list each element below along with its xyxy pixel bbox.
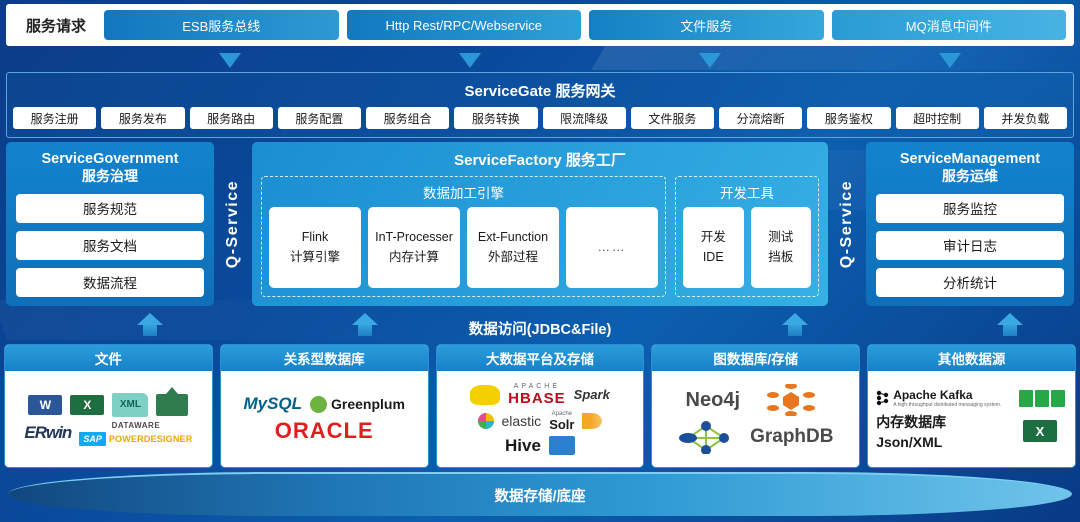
request-channel-esb[interactable]: ESB服务总线	[104, 10, 339, 40]
apache-hbase-prefix: APACHE	[514, 383, 560, 390]
elastic-mark-icon	[478, 413, 494, 429]
relational-logo-row-2: ORACLE	[275, 418, 374, 444]
management-item-analytics[interactable]: 分析统计	[876, 268, 1064, 297]
elastic-logo: elastic	[502, 413, 542, 429]
upload-icon	[156, 394, 188, 416]
source-relational-body: MySQL Greenplum ORACLE	[221, 371, 428, 467]
engine-group-title: 数据加工引擎	[269, 182, 658, 207]
hive-logo: Hive	[505, 436, 541, 456]
neo4j-graph-icon	[678, 420, 736, 454]
middle-band: ServiceGovernment 服务治理 服务规范 服务文档 数据流程 Q-…	[6, 142, 1074, 306]
engine-card-flink-line1: Flink	[302, 228, 328, 247]
management-title-en: ServiceManagement	[876, 150, 1064, 168]
other-logo-row-1: Apache Kafka A high-throughput distribut…	[876, 388, 1071, 408]
tools-card-dev-ide[interactable]: 开发 IDE	[683, 207, 744, 288]
tools-card-test-line1: 测试	[768, 228, 793, 247]
engine-card-row: Flink 计算引擎 InT-Processer 内存计算 Ext-Functi…	[269, 207, 658, 288]
source-bigdata-title: 大数据平台及存储	[437, 345, 644, 371]
tools-card-dev-line2: IDE	[703, 248, 724, 267]
governance-item-spec[interactable]: 服务规范	[16, 194, 204, 223]
gate-tag-service-compose[interactable]: 服务组合	[366, 107, 449, 129]
source-other-body: Apache Kafka A high-throughput distribut…	[868, 371, 1075, 467]
management-item-monitor[interactable]: 服务监控	[876, 194, 1064, 223]
hive-bee-icon	[470, 385, 500, 405]
spark-logo: Spark	[574, 387, 610, 402]
powerdesigner-logo: POWERDESIGNER	[109, 434, 193, 444]
source-panel-bigdata[interactable]: 大数据平台及存储 APACHE HBASE Spark elastic Apac…	[436, 344, 645, 468]
other-logo-row-2: 内存数据库 Json/XML X	[876, 412, 1071, 450]
data-access-bar: 数据访问(JDBC&File)	[6, 311, 1074, 345]
service-request-label: 服务请求	[14, 15, 96, 36]
governance-title-en: ServiceGovernment	[16, 150, 204, 168]
gate-tag-service-auth[interactable]: 服务鉴权	[807, 107, 890, 129]
governance-item-list: 服务规范 服务文档 数据流程	[16, 194, 204, 297]
hive-file-icon	[549, 436, 575, 455]
engine-card-ext-line1: Ext-Function	[478, 228, 548, 247]
data-access-label: 数据访问(JDBC&File)	[469, 318, 612, 339]
graphdb-logo-row-1: Neo4j	[686, 384, 826, 416]
gate-tag-service-route[interactable]: 服务路由	[190, 107, 273, 129]
mysql-logo: MySQL	[243, 394, 302, 414]
gate-tag-service-transform[interactable]: 服务转换	[454, 107, 537, 129]
request-channel-mq[interactable]: MQ消息中间件	[832, 10, 1067, 40]
engine-card-more[interactable]: ……	[566, 207, 658, 288]
graphdb-logo-row-2: GraphDB	[678, 420, 833, 454]
flow-arrow-down-1	[219, 53, 241, 68]
qservice-label-left: Q-Service	[214, 142, 252, 306]
data-storage-base-bar: 数据存储/底座	[8, 472, 1072, 516]
gate-tag-service-register[interactable]: 服务注册	[13, 107, 96, 129]
engine-card-int-line1: InT-Processer	[375, 228, 453, 247]
solr-logo: Solr	[549, 417, 574, 432]
gate-tag-service-config[interactable]: 服务配置	[278, 107, 361, 129]
source-graphdb-body: Neo4j	[652, 371, 859, 467]
excel-icon-2: X	[1023, 420, 1057, 442]
data-processing-engine-group: 数据加工引擎 Flink 计算引擎 InT-Processer 内存计算 Ext…	[261, 176, 666, 297]
bigdata-logo-row-1: APACHE HBASE Spark	[470, 383, 610, 407]
development-tools-group: 开发工具 开发 IDE 测试 挡板	[675, 176, 819, 297]
management-title-cn: 服务运维	[876, 168, 1064, 186]
source-relational-title: 关系型数据库	[221, 345, 428, 371]
management-item-audit-log[interactable]: 审计日志	[876, 231, 1064, 260]
tools-group-title: 开发工具	[683, 182, 811, 207]
engine-card-int-processer[interactable]: InT-Processer 内存计算	[368, 207, 460, 288]
service-factory-panel: ServiceFactory 服务工厂 数据加工引擎 Flink 计算引擎 In…	[252, 142, 828, 306]
files-logo-row-1: W X XML	[28, 393, 188, 417]
sap-logo: SAP	[79, 432, 106, 446]
governance-title: ServiceGovernment 服务治理	[16, 150, 204, 186]
qservice-label-right: Q-Service	[828, 142, 866, 306]
qservice-left-text: Q-Service	[224, 180, 242, 268]
engine-card-flink-line2: 计算引擎	[290, 248, 340, 267]
gate-tag-service-publish[interactable]: 服务发布	[101, 107, 184, 129]
relational-logo-row-1: MySQL Greenplum	[243, 394, 404, 414]
data-storage-base-label: 数据存储/底座	[494, 485, 585, 506]
gate-tag-timeout-control[interactable]: 超时控制	[896, 107, 979, 129]
source-files-body: W X XML ERwin DATAWARE SAP POWERDESIGNER	[5, 371, 212, 467]
governance-item-dataflow[interactable]: 数据流程	[16, 268, 204, 297]
servicegate-tag-list: 服务注册 服务发布 服务路由 服务配置 服务组合 服务转换 限流降级 文件服务 …	[7, 107, 1073, 129]
kafka-mark-icon	[876, 390, 890, 406]
hbase-logo: HBASE	[508, 390, 566, 407]
governance-item-doc[interactable]: 服务文档	[16, 231, 204, 260]
graphdb-logo: GraphDB	[750, 426, 833, 448]
source-panel-files[interactable]: 文件 W X XML ERwin DATAWARE SAP POWERDESIG…	[4, 344, 213, 468]
tools-card-test-mock[interactable]: 测试 挡板	[751, 207, 812, 288]
engine-card-ext-line2: 外部过程	[488, 248, 538, 267]
solr-sun-icon	[582, 413, 602, 429]
word-icon: W	[28, 395, 62, 415]
source-graphdb-title: 图数据库/存储	[652, 345, 859, 371]
qservice-right-text: Q-Service	[838, 180, 856, 268]
greenplum-mark-icon	[310, 396, 327, 413]
source-panel-graphdb[interactable]: 图数据库/存储 Neo4j	[651, 344, 860, 468]
governance-title-cn: 服务治理	[16, 168, 204, 186]
factory-body: 数据加工引擎 Flink 计算引擎 InT-Processer 内存计算 Ext…	[261, 176, 819, 297]
request-channel-http[interactable]: Http Rest/RPC/Webservice	[347, 10, 582, 40]
source-panel-relational-db[interactable]: 关系型数据库 MySQL Greenplum ORACLE	[220, 344, 429, 468]
flow-arrow-down-4	[939, 53, 961, 68]
flow-arrow-down-3	[699, 53, 721, 68]
files-logo-row-2: ERwin DATAWARE SAP POWERDESIGNER	[24, 421, 192, 446]
greenplum-logo: Greenplum	[331, 396, 405, 412]
tools-card-row: 开发 IDE 测试 挡板	[683, 207, 811, 288]
engine-card-flink[interactable]: Flink 计算引擎	[269, 207, 361, 288]
servicegate-panel: ServiceGate 服务网关 服务注册 服务发布 服务路由 服务配置 服务组…	[6, 72, 1074, 138]
dataware-logo: DATAWARE	[112, 421, 161, 430]
factory-title: ServiceFactory 服务工厂	[261, 149, 819, 176]
data-source-panels: 文件 W X XML ERwin DATAWARE SAP POWERDESIG…	[4, 344, 1076, 468]
tools-card-dev-line1: 开发	[701, 228, 726, 247]
gate-tag-circuit-breaker[interactable]: 分流熔断	[719, 107, 802, 129]
servicegate-title: ServiceGate 服务网关	[7, 73, 1073, 107]
excel-icon: X	[70, 395, 104, 415]
engine-card-ext-function[interactable]: Ext-Function 外部过程	[467, 207, 559, 288]
green-table-icon-1	[1019, 390, 1033, 407]
management-title: ServiceManagement 服务运维	[876, 150, 1064, 186]
bigdata-logo-row-2: elastic Apache Solr	[478, 411, 603, 432]
graphdb-nodes-icon	[756, 384, 826, 416]
gate-tag-concurrency-load[interactable]: 并发负载	[984, 107, 1067, 129]
json-xml-label: Json/XML	[876, 434, 946, 450]
gate-tag-file-service[interactable]: 文件服务	[631, 107, 714, 129]
xml-icon: XML	[112, 393, 148, 417]
source-other-title: 其他数据源	[868, 345, 1075, 371]
request-channel-file[interactable]: 文件服务	[589, 10, 824, 40]
green-table-icon-3	[1051, 390, 1065, 407]
management-item-list: 服务监控 审计日志 分析统计	[876, 194, 1064, 297]
erwin-logo: ERwin	[24, 423, 71, 443]
bigdata-logo-row-3: Hive	[505, 436, 575, 456]
flow-arrow-down-2	[459, 53, 481, 68]
gate-tag-rate-limit[interactable]: 限流降级	[543, 107, 626, 129]
source-bigdata-body: APACHE HBASE Spark elastic Apache Solr H…	[437, 371, 644, 467]
green-table-icon-2	[1035, 390, 1049, 407]
engine-card-more-line1: ……	[598, 238, 627, 257]
tools-card-test-line2: 挡板	[768, 248, 793, 267]
engine-card-int-line2: 内存计算	[389, 248, 439, 267]
service-request-bar: 服务请求 ESB服务总线 Http Rest/RPC/Webservice 文件…	[6, 4, 1074, 46]
service-governance-panel: ServiceGovernment 服务治理 服务规范 服务文档 数据流程	[6, 142, 214, 306]
kafka-logo: Apache Kafka	[893, 388, 1001, 402]
source-panel-other[interactable]: 其他数据源 Apache Kafka A high-throughput dis…	[867, 344, 1076, 468]
service-management-panel: ServiceManagement 服务运维 服务监控 审计日志 分析统计	[866, 142, 1074, 306]
oracle-logo: ORACLE	[275, 418, 374, 444]
memory-db-label: 内存数据库	[876, 412, 946, 432]
kafka-tagline: A high-throughput distributed messaging …	[893, 402, 1001, 408]
neo4j-logo: Neo4j	[686, 389, 740, 412]
source-files-title: 文件	[5, 345, 212, 371]
